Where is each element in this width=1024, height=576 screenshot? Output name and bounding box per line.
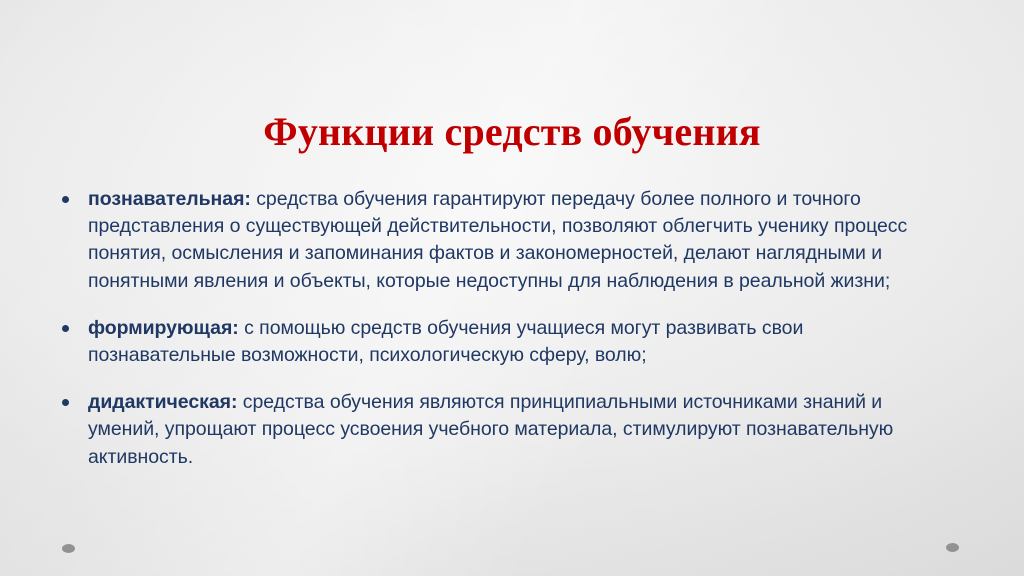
bullet-marker-icon: [62, 196, 69, 203]
bullet-item: дидактическая: средства обучения являютс…: [52, 389, 956, 471]
bullet-lead-term: познавательная:: [88, 188, 251, 210]
bullet-item: познавательная: средства обучения гарант…: [52, 186, 956, 296]
decorative-dot-right-icon: [946, 543, 959, 552]
bullet-lead-term: дидактическая:: [88, 391, 237, 413]
slide-body-content: познавательная: средства обучения гарант…: [52, 166, 956, 471]
slide-title: Функции средств обучения: [0, 109, 1024, 155]
bullet-lead-term: формирующая:: [88, 317, 239, 339]
decorative-dot-left-icon: [62, 544, 75, 553]
bullet-marker-icon: [62, 399, 69, 406]
bullet-marker-icon: [62, 325, 69, 332]
presentation-slide: Функции средств обучения познавательная:…: [0, 0, 1024, 576]
bullet-item: формирующая: с помощью средств обучения …: [52, 315, 956, 370]
